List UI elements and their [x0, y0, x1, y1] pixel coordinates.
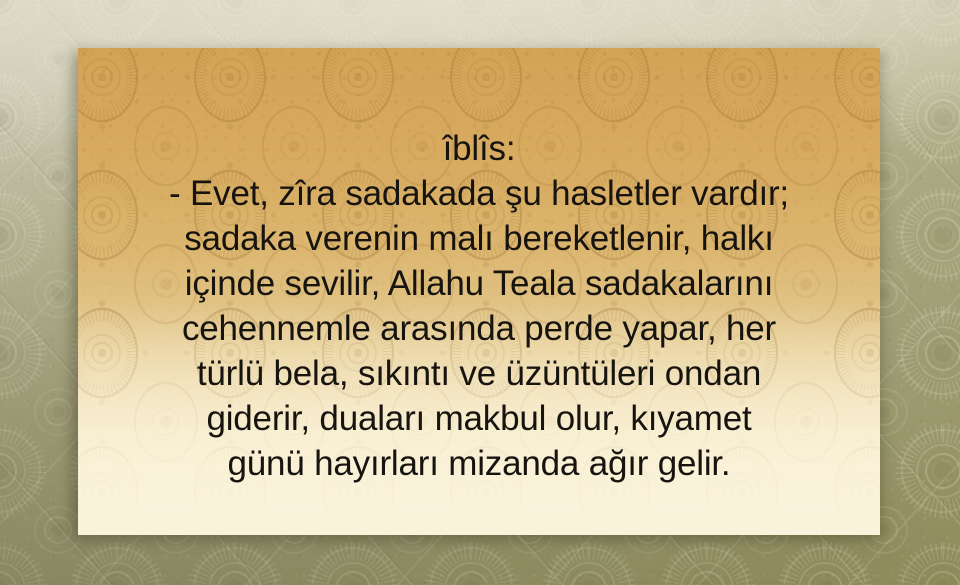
quote-text-block: îblîs: - Evet, zîra sadakada şu hasletle… [78, 48, 880, 535]
quote-line: sadaka verenin malı bereketlenir, halkı [94, 216, 864, 261]
speaker-label: îblîs: [94, 126, 864, 171]
quote-line: giderir, duaları makbul olur, kıyamet [94, 396, 864, 441]
quote-line: cehennemle arasında perde yapar, her [94, 306, 864, 351]
quote-line: içinde sevilir, Allahu Teala sadakaların… [94, 261, 864, 306]
quote-line: - Evet, zîra sadakada şu hasletler vardı… [94, 171, 864, 216]
slide-canvas: îblîs: - Evet, zîra sadakada şu hasletle… [0, 0, 960, 585]
quote-line: türlü bela, sıkıntı ve üzüntüleri ondan [94, 351, 864, 396]
quote-line: günü hayırları mizanda ağır gelir. [94, 441, 864, 486]
